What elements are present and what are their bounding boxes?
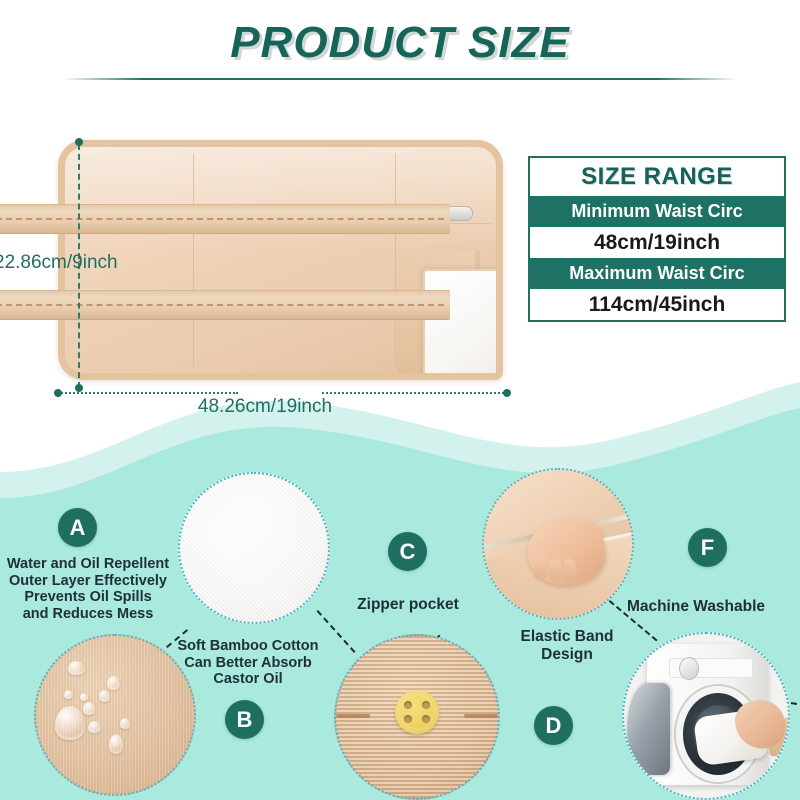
badge-a: A [58,508,97,547]
infographic-canvas: PRODUCT SIZE 22.86cm/9inch [0,0,800,800]
strap-upper-stitching [0,218,444,220]
badge-f: F [688,528,727,567]
feature-image-bamboo-cotton [178,472,330,624]
finger [564,559,576,579]
finger [534,556,546,580]
table-row-min-value: 48cm/19inch [530,227,784,258]
badge-d: D [534,706,573,745]
water-droplet [120,718,130,729]
height-dimension-label: 22.86cm/9inch [0,252,118,274]
size-range-heading: SIZE RANGE [530,158,784,196]
washing-machine-knob [679,657,699,680]
finger [549,559,561,581]
water-droplet [64,690,73,699]
strap-lower-stitching [0,304,444,306]
width-dimension-line-right [322,392,508,394]
badge-b: B [225,700,264,739]
button-hole [404,715,412,723]
feature-label-c: Zipper pocket [336,596,480,614]
button-hole [404,701,412,709]
water-droplet [109,734,123,754]
pad-seam-left [193,153,194,367]
pad-seam-right [395,153,396,367]
water-droplet [80,693,88,701]
title-divider [62,78,738,80]
table-row-max-value: 114cm/45inch [530,289,784,320]
buttonhole-slot-right [464,714,498,718]
water-droplet [83,702,95,715]
height-dim-dot-bottom [75,384,83,392]
feature-label-f: Machine Washable [598,598,794,616]
feature-image-elastic-band [334,634,500,800]
feature-label-a: Water and Oil Repellent Outer Layer Effe… [4,556,172,622]
strap-lower [0,290,450,320]
strap-upper [0,204,450,234]
badge-c: C [388,532,427,571]
page-title-text: PRODUCT SIZE [230,18,570,68]
feature-image-machine-washable [622,632,790,800]
water-droplet [99,690,110,702]
width-dimension-label: 48.26cm/19inch [0,396,530,418]
water-droplet [107,676,120,690]
yellow-button-icon [395,690,439,734]
feature-label-b: Soft Bamboo Cotton Can Better Absorb Cas… [168,638,328,688]
button-hole [422,715,430,723]
width-dimension-line-left [58,392,238,394]
water-droplet [55,706,85,740]
washing-machine-open-door [627,683,670,775]
page-title: PRODUCT SIZE [0,18,800,68]
product-pad-body [58,140,503,380]
size-range-table: SIZE RANGE Minimum Waist Circ 48cm/19inc… [528,156,786,322]
table-row-max-label: Maximum Waist Circ [530,258,784,289]
height-dim-dot-top [75,138,83,146]
pad-sheen [65,147,496,251]
button-hole [422,701,430,709]
feature-label-d: Elastic Band Design [500,628,634,663]
white-inner-lining [423,269,503,380]
buttonhole-slot-left [336,714,370,718]
water-droplet [68,661,85,675]
water-droplet [88,721,101,733]
table-row-min-label: Minimum Waist Circ [530,196,784,227]
